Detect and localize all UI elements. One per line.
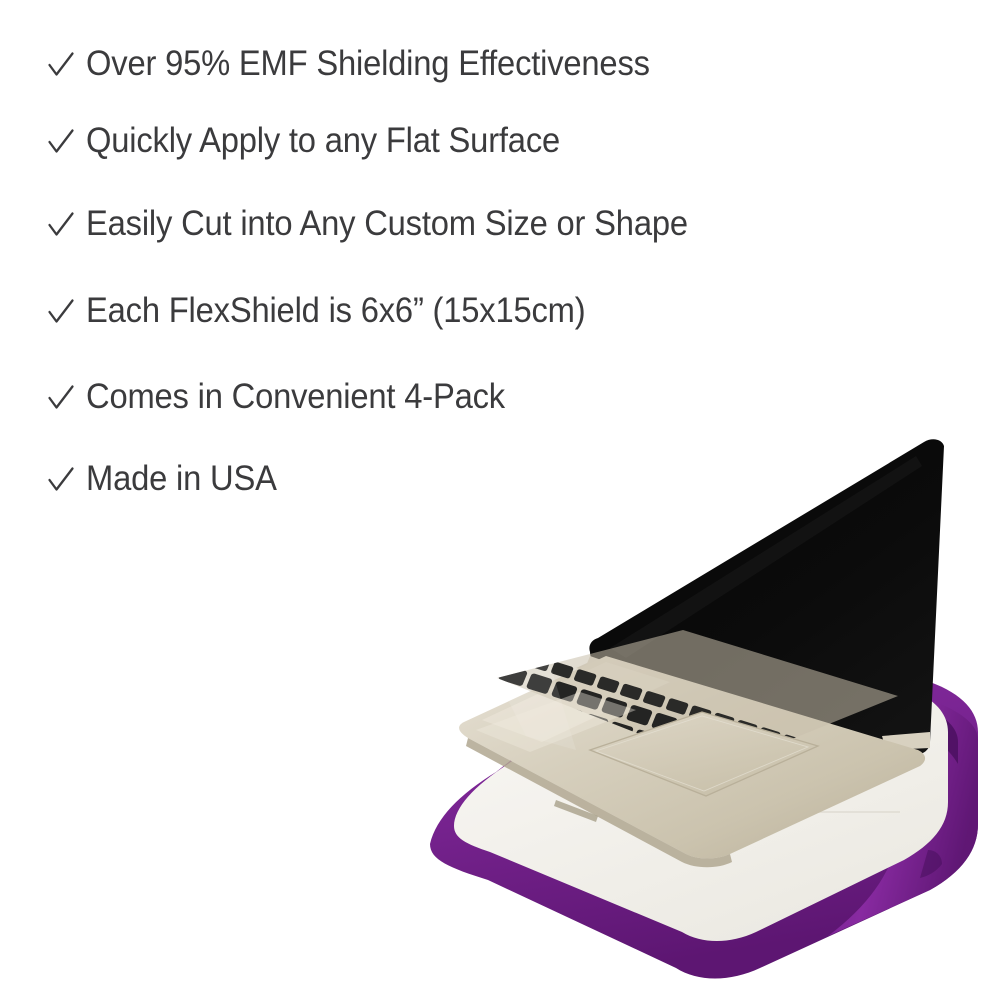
feature-label: Each FlexShield is 6x6” (15x15cm) <box>86 291 585 331</box>
list-item: Easily Cut into Any Custom Size or Shape <box>46 204 730 244</box>
feature-label: Quickly Apply to any Flat Surface <box>86 121 560 161</box>
product-feature-graphic: Over 95% EMF Shielding Effectiveness Qui… <box>0 0 1000 1000</box>
list-item: Each FlexShield is 6x6” (15x15cm) <box>46 291 620 331</box>
feature-label: Comes in Convenient 4-Pack <box>86 377 505 417</box>
check-icon <box>46 382 76 412</box>
feature-label: Easily Cut into Any Custom Size or Shape <box>86 204 688 244</box>
feature-label: Over 95% EMF Shielding Effectiveness <box>86 44 650 84</box>
feature-label: Made in USA <box>86 459 277 499</box>
check-icon <box>46 464 76 494</box>
list-item: Comes in Convenient 4-Pack <box>46 377 534 417</box>
check-icon <box>46 49 76 79</box>
list-item: Made in USA <box>46 459 290 499</box>
check-icon <box>46 126 76 156</box>
list-item: Over 95% EMF Shielding Effectiveness <box>46 44 689 84</box>
product-photo <box>430 420 1000 1000</box>
check-icon <box>46 209 76 239</box>
check-icon <box>46 296 76 326</box>
list-item: Quickly Apply to any Flat Surface <box>46 121 593 161</box>
